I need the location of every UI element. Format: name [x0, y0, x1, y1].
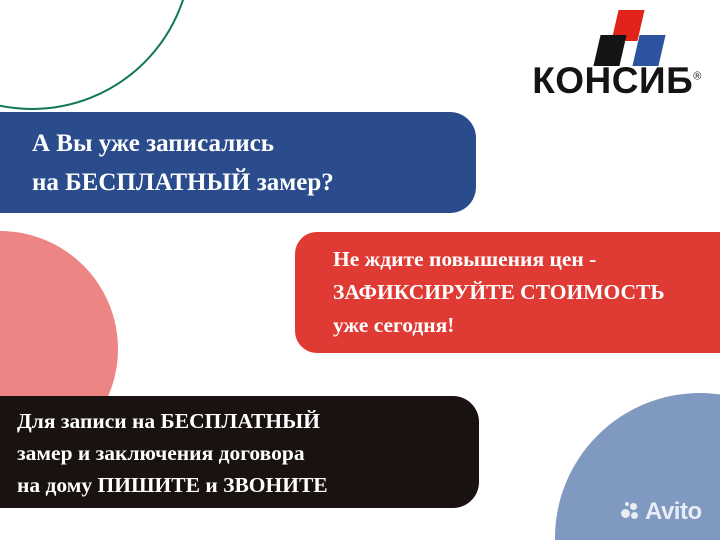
advertisement-poster: КОНСИБ® А Вы уже записались на БЕСПЛАТНЫ…: [0, 0, 720, 540]
banner-red-line-2: ЗАФИКСИРУЙТЕ СТОИМОСТЬ: [333, 276, 720, 309]
banner-blue-line-1: А Вы уже записались: [32, 124, 476, 163]
banner-black-line-1: Для записи на БЕСПЛАТНЫЙ: [17, 405, 479, 437]
company-logo: КОНСИБ®: [524, 6, 710, 110]
logo-mark-group: [524, 6, 710, 66]
avito-dots-icon: [621, 502, 641, 522]
banner-black-line-3: на дому ПИШИТЕ и ЗВОНИТЕ: [17, 469, 479, 501]
avito-watermark: Avito: [621, 500, 702, 524]
banner-red-line-3: уже сегодня!: [333, 309, 720, 342]
registered-trademark-symbol: ®: [693, 71, 702, 83]
brand-name: КОНСИБ: [532, 60, 693, 101]
headline-banner-blue: А Вы уже записались на БЕСПЛАТНЫЙ замер?: [0, 112, 476, 213]
banner-blue-line-2: на БЕСПЛАТНЫЙ замер?: [32, 163, 476, 202]
banner-black-line-2: замер и заключения договора: [17, 437, 479, 469]
banner-red-line-1: Не ждите повышения цен -: [333, 243, 720, 276]
green-circle-outline-decoration: [0, 0, 192, 110]
logo-wordmark: КОНСИБ®: [524, 62, 710, 99]
message-banner-red: Не ждите повышения цен - ЗАФИКСИРУЙТЕ СТ…: [295, 232, 720, 353]
avito-wordmark: Avito: [645, 500, 702, 524]
cta-banner-black: Для записи на БЕСПЛАТНЫЙ замер и заключе…: [0, 396, 479, 508]
